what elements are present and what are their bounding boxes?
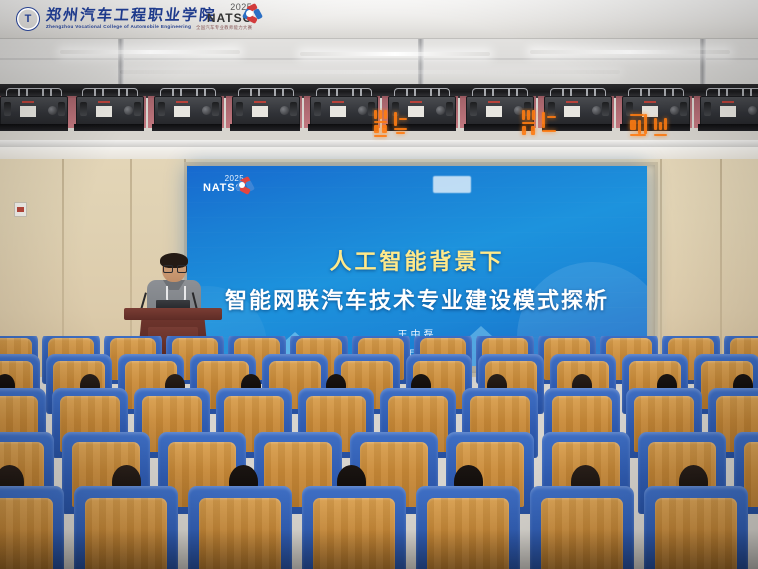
slide-natsc-logo: 2025 NATSC [203, 174, 254, 194]
led-glyph [542, 112, 545, 128]
presenter-glasses-icon [163, 265, 185, 271]
college-name-cn: 郑州汽车工程职业学院 [45, 8, 217, 23]
auditorium-seat[interactable] [74, 486, 178, 569]
stage-light-fixture [0, 88, 70, 136]
led-glyph [399, 118, 407, 120]
slide-title-line1: 人工智能背景下 [187, 244, 647, 276]
stage-light-fixture [228, 88, 302, 136]
wall-cornice [0, 147, 758, 159]
led-marquee-sign [372, 108, 702, 142]
auditorium-seat[interactable] [644, 486, 748, 569]
led-glyph [654, 118, 657, 130]
college-logo: T 郑州汽车工程职业学院 Zhengzhou Vocational Colleg… [16, 7, 216, 31]
seat-back-panel [313, 498, 394, 569]
seat-back-panel [0, 498, 53, 569]
led-glyph [531, 126, 535, 135]
college-seal-icon: T [16, 7, 40, 31]
screen-glare-patch [433, 176, 471, 193]
led-glyph [547, 116, 556, 118]
photo-scene: T 郑州汽车工程职业学院 Zhengzhou Vocational Colleg… [0, 0, 758, 569]
stage-light-fixture [306, 88, 380, 136]
auditorium-seat[interactable] [0, 486, 64, 569]
led-glyph [396, 132, 405, 134]
led-glyph [394, 112, 397, 126]
led-glyph [374, 135, 387, 137]
seat-back-panel [541, 498, 622, 569]
led-glyph [382, 125, 387, 133]
led-glyph [654, 134, 667, 136]
auditorium-seat[interactable] [416, 486, 520, 569]
college-name-en: Zhengzhou Vocational College of Automobi… [46, 25, 216, 30]
auditorium-seat[interactable] [302, 486, 406, 569]
led-glyph [522, 126, 526, 135]
auditorium-seat[interactable] [530, 486, 634, 569]
led-glyph [659, 122, 662, 130]
hall-banner: T 郑州汽车工程职业学院 Zhengzhou Vocational Colleg… [0, 0, 758, 39]
seat-back-panel [85, 498, 166, 569]
stage-light-fixture [150, 88, 224, 136]
led-glyph [379, 110, 382, 119]
stage-light-fixture [696, 88, 758, 136]
led-glyph [384, 110, 387, 119]
natsc-subtitle-cn: 全国汽车专业教师能力大赛 [196, 26, 252, 30]
led-glyph [630, 134, 646, 136]
led-glyph [630, 114, 644, 116]
stage-light-fixture [72, 88, 146, 136]
seat-back-panel [427, 498, 508, 569]
led-glyph [374, 125, 379, 133]
led-glyph [522, 122, 535, 124]
led-glyph [522, 110, 525, 120]
led-glyph [374, 121, 387, 123]
seat-back-panel [655, 498, 736, 569]
led-glyph [638, 120, 641, 134]
audience-seating [0, 336, 758, 569]
led-glyph [532, 110, 535, 120]
led-glyph [644, 114, 647, 134]
pinwheel-icon [239, 2, 265, 26]
led-glyph [374, 110, 377, 119]
seat-back-panel [199, 498, 280, 569]
natsc-event-logo: 2025 NATSC 全国汽车专业教师能力大赛 [196, 3, 265, 30]
auditorium-seat[interactable] [188, 486, 292, 569]
wall-switch-panel[interactable] [14, 202, 27, 217]
led-glyph [527, 110, 530, 120]
slide-title-line2: 智能网联汽车技术专业建设模式探析 [187, 283, 647, 315]
led-glyph [664, 118, 667, 130]
led-glyph [542, 130, 556, 132]
led-glyph [630, 120, 636, 130]
slide-pinwheel-icon [234, 176, 254, 194]
led-glyph [394, 128, 407, 130]
